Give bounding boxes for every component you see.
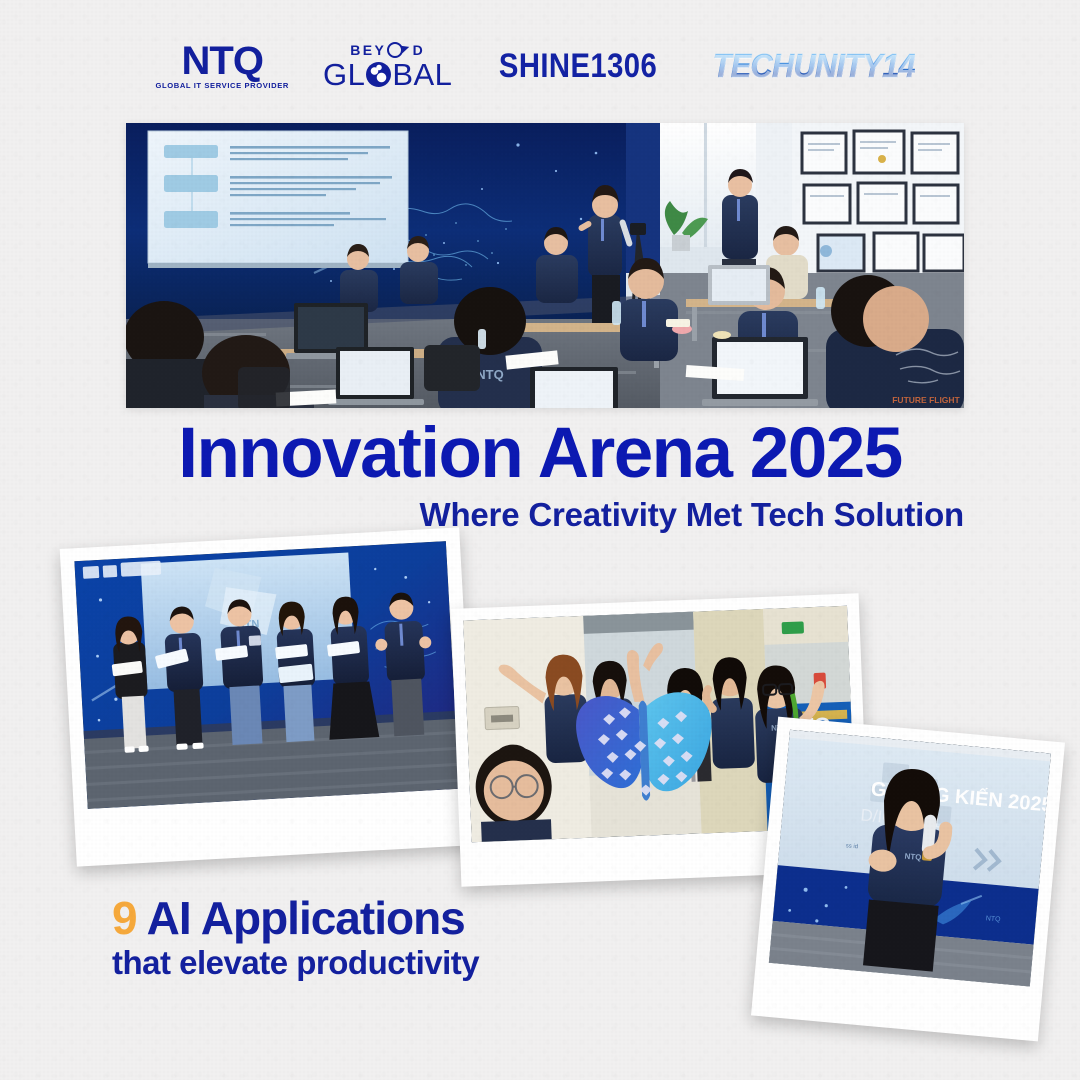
footer-headline-text: AI Applications — [147, 892, 465, 944]
award-group-illustration: HTN — [74, 541, 459, 809]
techunity14-wordmark: TECHUNITY14 — [713, 47, 915, 85]
beyond-global-top-word: BEY ➤ D — [350, 42, 425, 58]
footer-count: 9 — [112, 892, 137, 944]
logo-bar: NTQ GLOBAL IT SERVICE PROVIDER BEY ➤ D G… — [0, 36, 1080, 96]
svg-text:FUTURE FLIGHT: FUTURE FLIGHT — [892, 395, 960, 405]
presenter-polaroid: G SÁNG KIẾN 2025 D/ICD C11 ss id NTQ — [751, 717, 1065, 1042]
shine1306-wordmark: SHINE1306 — [499, 47, 657, 86]
beyond-global-logo: BEY ➤ D GL BAL — [323, 42, 452, 90]
beyond-arrow-icon: ➤ — [398, 39, 415, 55]
global-bottom-word: GL BAL — [323, 59, 452, 90]
hero-photo: NTQ FUTURE FLIGHT — [126, 123, 964, 408]
presenter-photo: G SÁNG KIẾN 2025 D/ICD C11 ss id NTQ — [769, 730, 1051, 987]
page-title: Innovation Arena 2025 — [0, 418, 1080, 489]
shine1306-logo: SHINE1306 — [486, 47, 670, 86]
globe-icon — [366, 62, 391, 87]
footer-subline: that elevate productivity — [112, 945, 479, 981]
global-text-after: BAL — [392, 59, 452, 90]
techunity14-logo: TECHUNITY14 — [704, 47, 924, 85]
svg-text:ss id: ss id — [845, 843, 858, 850]
ntq-logo: NTQ GLOBAL IT SERVICE PROVIDER — [155, 42, 288, 90]
poster-canvas: NTQ GLOBAL IT SERVICE PROVIDER BEY ➤ D G… — [0, 0, 1080, 1080]
footer-caption: 9 AI Applications that elevate productiv… — [112, 895, 479, 981]
beyond-text-after: D — [413, 43, 426, 57]
global-text-before: GL — [323, 59, 365, 90]
page-subtitle: Where Creativity Met Tech Solution — [104, 498, 964, 531]
svg-text:NTQ: NTQ — [476, 367, 503, 382]
hero-photo-illustration: NTQ FUTURE FLIGHT — [126, 123, 964, 408]
award-group-polaroid: HTN — [60, 527, 477, 866]
ntq-logo-wordmark: NTQ — [182, 42, 263, 80]
beyond-text-before: BEY — [350, 43, 386, 57]
footer-headline: 9 AI Applications — [112, 895, 479, 943]
presenter-illustration: G SÁNG KIẾN 2025 D/ICD C11 ss id NTQ — [769, 730, 1051, 987]
svg-text:NTQ: NTQ — [904, 852, 922, 862]
svg-text:NTQ: NTQ — [985, 915, 1001, 923]
award-group-photo: HTN — [74, 541, 459, 809]
